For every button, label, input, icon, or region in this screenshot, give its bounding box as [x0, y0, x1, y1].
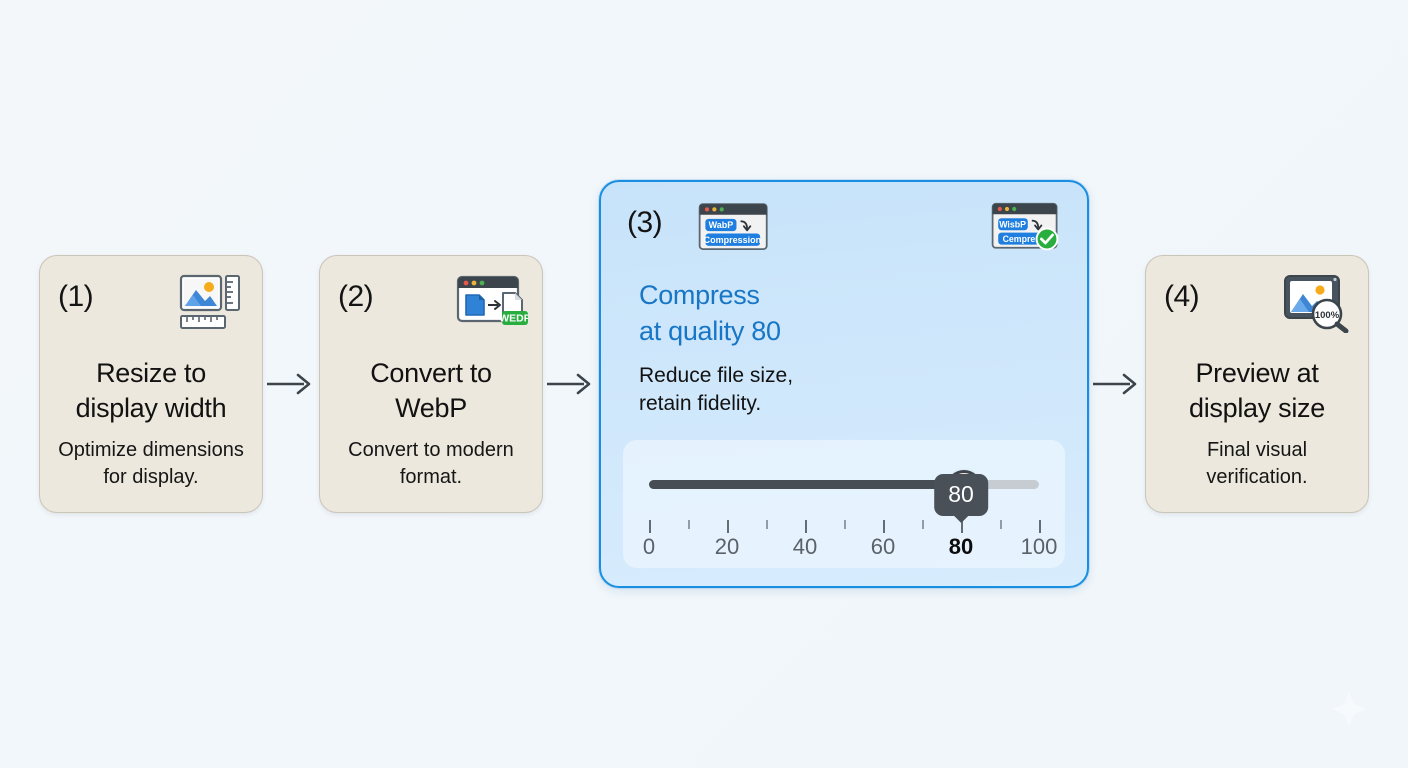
step-card-2[interactable]: (2) — [319, 255, 543, 513]
step-card-3-header: (3) WabP — [623, 196, 1065, 262]
slider-tick-label-20: 20 — [715, 536, 739, 558]
slider-tick-20 — [727, 520, 729, 533]
step-number-3: (3) — [623, 196, 662, 238]
steps-row: (1) — [39, 180, 1369, 587]
slider-tick-label-0: 0 — [643, 536, 655, 558]
arrow-3-to-4 — [1089, 369, 1145, 399]
step-number-1: (1) — [54, 272, 93, 312]
image-ruler-icon — [176, 272, 248, 334]
slider-tick-label-100: 100 — [1021, 536, 1058, 558]
webp-compress-done-window-icon: WisbP Cempres — [991, 196, 1063, 258]
step-title-2: Convert to WebP — [334, 356, 528, 425]
pill-label-webp-right: WisbP — [999, 220, 1026, 230]
arrow-1-to-2 — [263, 369, 319, 399]
step-card-3-active[interactable]: (3) WabP — [599, 180, 1089, 587]
step-card-4-header: (4) 100% — [1160, 272, 1354, 334]
step-title-4: Preview at display size — [1160, 356, 1354, 425]
step-card-1-header: (1) — [54, 272, 248, 334]
success-check-icon — [1037, 229, 1058, 250]
quality-slider-ticks — [649, 520, 1039, 534]
step-description-3-line1: Reduce file size, — [639, 364, 793, 387]
slider-tick-90 — [1000, 520, 1002, 529]
step-title-3-line1: Compress — [639, 280, 760, 310]
quality-slider-panel: 80 020406080100 — [623, 440, 1065, 568]
slider-tick-label-80: 80 — [949, 536, 973, 558]
slider-tick-40 — [805, 520, 807, 533]
quality-slider-tick-labels: 020406080100 — [649, 536, 1039, 562]
slider-tick-100 — [1039, 520, 1041, 533]
file-convert-window-icon: WEDP — [456, 272, 528, 334]
slider-tick-0 — [649, 520, 651, 533]
zoom-level-label: 100% — [1315, 310, 1340, 321]
step-title-1: Resize to display width — [54, 356, 248, 425]
quality-slider[interactable]: 80 020406080100 — [649, 480, 1039, 558]
pill-label-webp: WabP — [709, 221, 734, 231]
slider-tick-label-40: 40 — [793, 536, 817, 558]
flow-diagram-canvas: (1) — [0, 0, 1408, 768]
step-title-3-line2: at quality 80 — [639, 316, 781, 346]
quality-slider-tooltip: 80 — [934, 474, 988, 516]
step-description-3: Reduce file size, retain fidelity. — [623, 362, 1065, 417]
webp-compression-window-icon: WabP Compression — [698, 196, 770, 258]
step-description-4: Final visual verification. — [1160, 437, 1354, 490]
step-card-2-header: (2) — [334, 272, 528, 334]
quality-slider-fill — [649, 480, 961, 489]
step-description-2: Convert to modern format. — [334, 437, 528, 490]
step-description-1: Optimize dimensions for display. — [54, 437, 248, 490]
step-card-4[interactable]: (4) 100% — [1145, 255, 1369, 513]
step-card-3-icons: WabP Compression — [662, 196, 1065, 258]
arrow-2-to-3 — [543, 369, 599, 399]
step-card-1[interactable]: (1) — [39, 255, 263, 513]
image-magnifier-icon: 100% — [1282, 272, 1354, 334]
slider-tick-label-60: 60 — [871, 536, 895, 558]
webp-badge-label: WEDP — [499, 313, 528, 325]
slider-tick-60 — [883, 520, 885, 533]
step-description-3-line2: retain fidelity. — [639, 392, 761, 415]
step-number-2: (2) — [334, 272, 373, 312]
slider-tick-70 — [922, 520, 924, 529]
slider-tick-50 — [844, 520, 846, 529]
pill-label-compress-right: Cempres — [1003, 234, 1041, 244]
step-title-3: Compress at quality 80 — [623, 278, 1065, 350]
slider-tick-30 — [766, 520, 768, 529]
slider-tick-10 — [688, 520, 690, 529]
steps-flow: (1) — [0, 0, 1408, 768]
pill-label-compression: Compression — [704, 235, 762, 245]
step-number-4: (4) — [1160, 272, 1199, 312]
